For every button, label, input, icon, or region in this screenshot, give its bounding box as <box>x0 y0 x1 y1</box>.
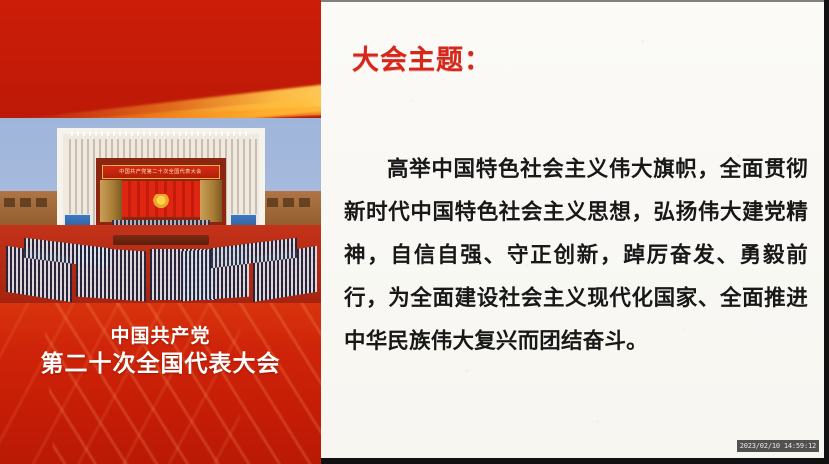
poster-caption: 中国共产党 第二十次全国代表大会 <box>0 325 321 378</box>
recording-timestamp: 2023/02/10 14:59:12 <box>737 440 819 452</box>
poster-panel: 中国共产党第二十次全国代表大会 <box>0 0 321 464</box>
photo-floor <box>0 225 321 303</box>
photo-stage-banner: 中国共产党第二十次全国代表大会 <box>102 165 220 179</box>
frame-edge-right <box>824 0 829 464</box>
poster-caption-line-2: 第二十次全国代表大会 <box>0 350 321 378</box>
theme-paragraph: 高举中国特色社会主义伟大旗帜，全面贯彻新时代中国特色社会主义思想，弘扬伟大建党精… <box>344 148 808 363</box>
photo-curtain-left <box>100 180 122 222</box>
photo-podium <box>113 235 209 245</box>
frame-edge-bottom <box>321 458 829 464</box>
photo-curtain-right <box>200 180 222 222</box>
frame-edge-top <box>321 0 829 2</box>
poster-caption-line-1: 中国共产党 <box>0 325 321 348</box>
theme-body-text: 高举中国特色社会主义伟大旗帜，全面贯彻新时代中国特色社会主义思想，弘扬伟大建党精… <box>344 148 808 363</box>
content-panel: 大会主题： 高举中国特色社会主义伟大旗帜，全面贯彻新时代中国特色社会主义思想，弘… <box>321 0 824 458</box>
page-title: 大会主题： <box>352 38 492 77</box>
great-hall-photo: 中国共产党第二十次全国代表大会 <box>0 118 321 303</box>
poster-top-band <box>0 0 321 120</box>
party-emblem-icon <box>153 194 169 208</box>
poster-bottom-band: 中国共产党 第二十次全国代表大会 <box>0 303 321 464</box>
photo-ceiling-lights <box>71 132 251 136</box>
presentation-slide: 中国共产党第二十次全国代表大会 <box>0 0 829 464</box>
